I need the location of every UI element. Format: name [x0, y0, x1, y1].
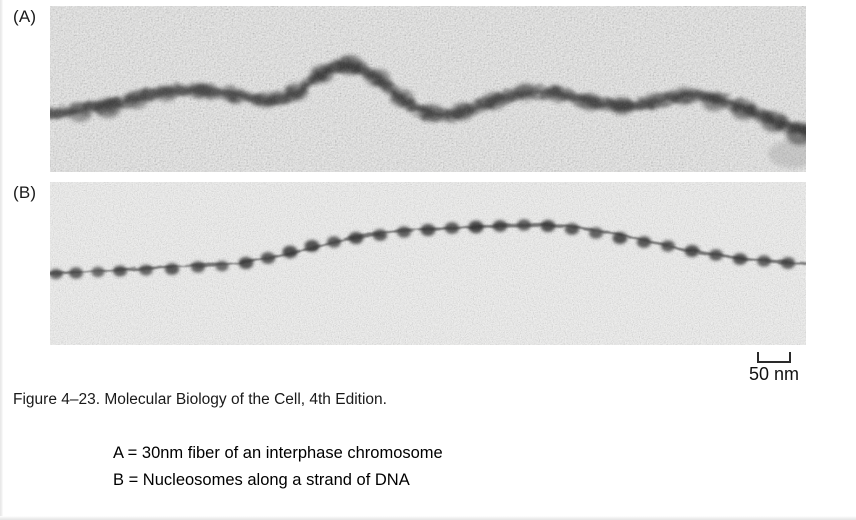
figure-legend: A = 30nm fiber of an interphase chromoso…	[113, 440, 443, 494]
panel-b-label: (B)	[13, 183, 36, 202]
panel-b-micrograph	[50, 182, 806, 345]
scale-bar-label: 50 nm	[740, 363, 808, 385]
scale-bracket-icon	[757, 352, 791, 363]
legend-line-a: A = 30nm fiber of an interphase chromoso…	[113, 440, 443, 467]
panel-b-image	[50, 182, 806, 345]
scale-bar: 50 nm	[740, 350, 850, 386]
legend-line-b: B = Nucleosomes along a strand of DNA	[113, 467, 443, 494]
figure-caption: Figure 4–23. Molecular Biology of the Ce…	[13, 390, 387, 409]
page-bottom-edge-line	[0, 516, 856, 520]
panel-a-image	[50, 6, 806, 172]
panel-a-label: (A)	[13, 7, 36, 26]
page-left-edge-line	[0, 0, 3, 520]
figure-page: (A)	[0, 0, 856, 520]
panel-a-micrograph	[50, 6, 806, 172]
